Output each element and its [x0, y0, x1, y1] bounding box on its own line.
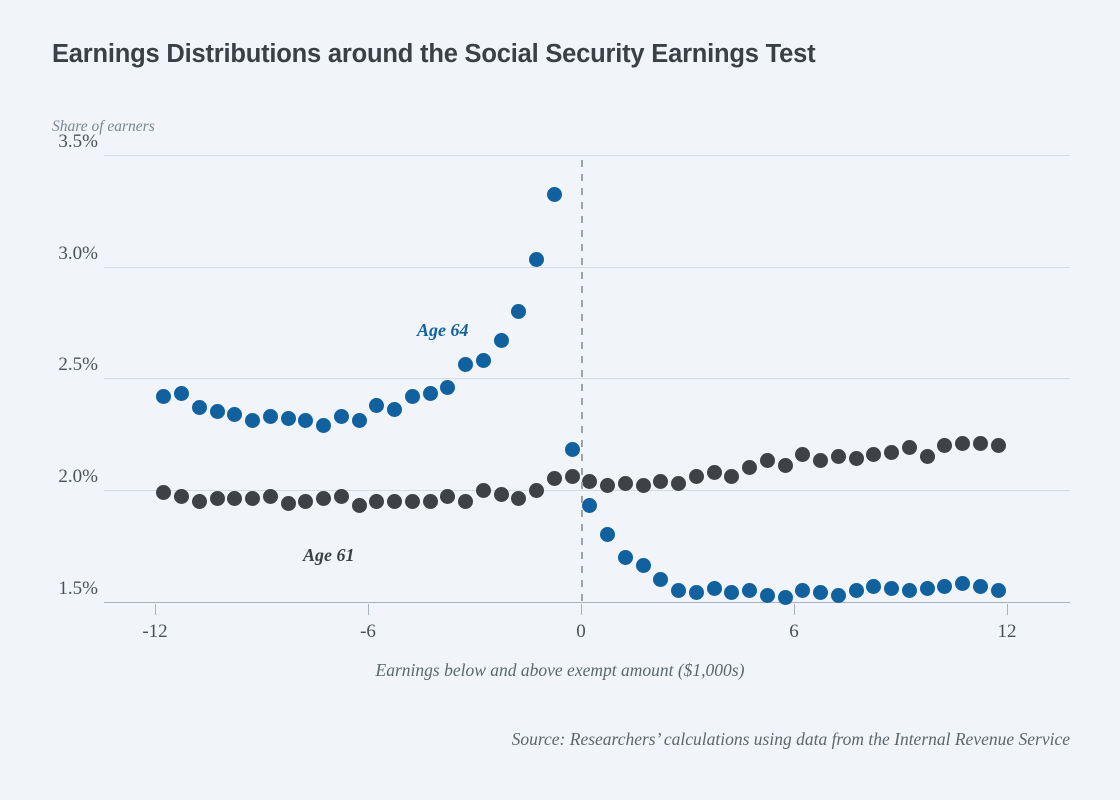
data-point [245, 491, 260, 506]
data-point [227, 491, 242, 506]
x-axis-tick-label: -12 [125, 621, 185, 643]
data-point [334, 409, 349, 424]
data-point [955, 436, 970, 451]
data-point [937, 438, 952, 453]
data-point [991, 438, 1006, 453]
data-point [582, 498, 597, 513]
data-point [423, 386, 438, 401]
data-point [795, 447, 810, 462]
data-point [334, 489, 349, 504]
data-point [724, 469, 739, 484]
x-axis-line [104, 602, 1070, 603]
x-axis-tick [1007, 604, 1008, 615]
data-point [156, 389, 171, 404]
data-point [494, 487, 509, 502]
data-point [582, 474, 597, 489]
data-point [902, 583, 917, 598]
data-point [192, 494, 207, 509]
y-axis-tick-label: 2.0% [22, 466, 98, 488]
data-point [458, 357, 473, 372]
data-point [156, 485, 171, 500]
data-point [405, 494, 420, 509]
data-point [955, 576, 970, 591]
y-axis-tick-label: 3.0% [22, 243, 98, 265]
data-point [387, 494, 402, 509]
data-point [813, 585, 828, 600]
data-point [760, 453, 775, 468]
data-point [405, 389, 420, 404]
data-point [920, 581, 935, 596]
data-point [316, 418, 331, 433]
y-axis-tick-label: 3.5% [22, 131, 98, 153]
data-point [884, 445, 899, 460]
data-point [795, 583, 810, 598]
data-point [547, 471, 562, 486]
data-point [529, 483, 544, 498]
data-point [352, 413, 367, 428]
x-axis-tick [794, 604, 795, 615]
data-point [600, 527, 615, 542]
y-axis-tick-label: 1.5% [22, 578, 98, 600]
x-axis-tick-label: 12 [977, 621, 1037, 643]
zero-reference-line [581, 160, 583, 605]
data-point [849, 451, 864, 466]
data-point [920, 449, 935, 464]
data-point [991, 583, 1006, 598]
x-axis-tick-label: 0 [551, 621, 611, 643]
data-point [618, 550, 633, 565]
data-point [636, 558, 651, 573]
data-point [440, 380, 455, 395]
data-point [831, 588, 846, 603]
data-point [760, 588, 775, 603]
data-point [174, 489, 189, 504]
data-point [263, 489, 278, 504]
data-point [174, 386, 189, 401]
data-point [369, 494, 384, 509]
data-point [352, 498, 367, 513]
x-axis-tick [581, 604, 582, 615]
data-point [547, 187, 562, 202]
series-label-age61: Age 61 [303, 545, 355, 566]
data-point [884, 581, 899, 596]
data-point [866, 447, 881, 462]
data-point [476, 353, 491, 368]
data-point [778, 590, 793, 605]
x-axis-title: Earnings below and above exempt amount (… [0, 660, 1120, 681]
source-note: Source: Researchers’ calculations using … [512, 729, 1070, 750]
data-point [778, 458, 793, 473]
data-point [724, 585, 739, 600]
data-point [902, 440, 917, 455]
data-point [653, 474, 668, 489]
data-point [689, 585, 704, 600]
data-point [742, 460, 757, 475]
data-point [511, 304, 526, 319]
series-label-age64: Age 64 [417, 320, 469, 341]
data-point [973, 436, 988, 451]
data-point [937, 579, 952, 594]
data-point [831, 449, 846, 464]
data-point [707, 465, 722, 480]
data-point [298, 494, 313, 509]
data-point [671, 583, 686, 598]
y-axis-tick-label: 2.5% [22, 354, 98, 376]
data-point [423, 494, 438, 509]
x-axis-tick [155, 604, 156, 615]
data-point [813, 453, 828, 468]
data-point [671, 476, 686, 491]
data-point [192, 400, 207, 415]
data-point [458, 494, 473, 509]
data-point [476, 483, 491, 498]
data-point [227, 407, 242, 422]
data-point [298, 413, 313, 428]
chart-figure: Earnings Distributions around the Social… [0, 0, 1120, 800]
data-point [529, 252, 544, 267]
data-point [245, 413, 260, 428]
gridline [104, 155, 1070, 156]
data-point [849, 583, 864, 598]
data-point [387, 402, 402, 417]
data-point [973, 579, 988, 594]
x-axis-tick [368, 604, 369, 615]
data-point [707, 581, 722, 596]
data-point [565, 442, 580, 457]
data-point [316, 491, 331, 506]
data-point [866, 579, 881, 594]
data-point [565, 469, 580, 484]
data-point [742, 583, 757, 598]
gridline [104, 378, 1070, 379]
data-point [210, 491, 225, 506]
data-point [511, 491, 526, 506]
data-point [689, 469, 704, 484]
x-axis-tick-label: 6 [764, 621, 824, 643]
data-point [494, 333, 509, 348]
data-point [281, 411, 296, 426]
data-point [636, 478, 651, 493]
data-point [210, 404, 225, 419]
data-point [440, 489, 455, 504]
gridline [104, 267, 1070, 268]
data-point [263, 409, 278, 424]
x-axis-tick-label: -6 [338, 621, 398, 643]
data-point [653, 572, 668, 587]
data-point [618, 476, 633, 491]
data-point [281, 496, 296, 511]
data-point [369, 398, 384, 413]
